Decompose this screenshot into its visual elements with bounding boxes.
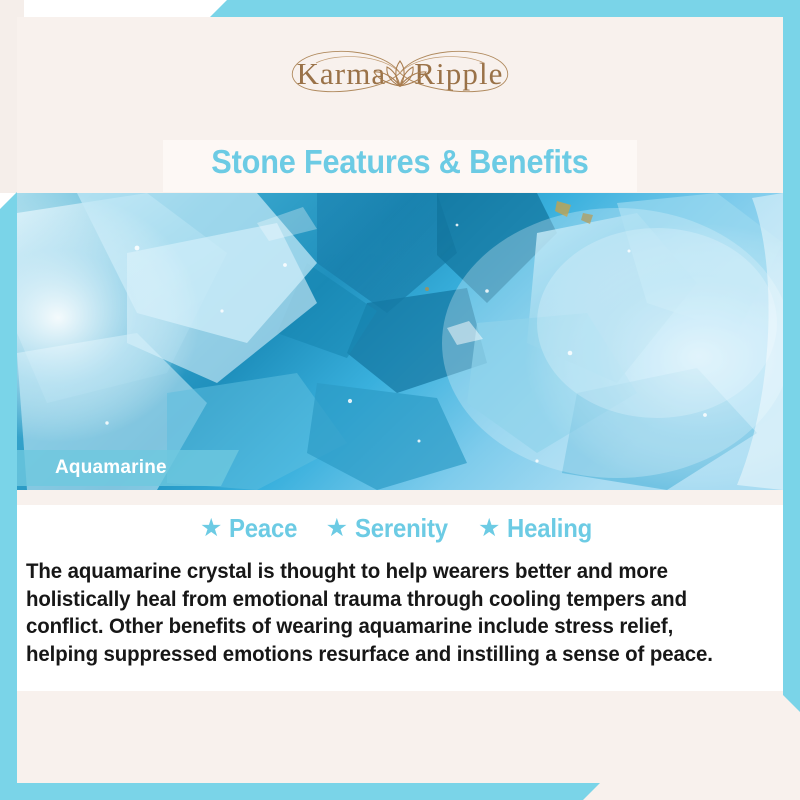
keyword-item-peace: ★ Peace	[200, 513, 304, 544]
star-icon: ★	[326, 516, 348, 541]
description-text: The aquamarine crystal is thought to hel…	[26, 558, 740, 668]
brand-logo-inner: Karma Ripple	[250, 42, 550, 104]
star-icon: ★	[478, 516, 500, 541]
infinity-flourish-icon	[250, 42, 550, 104]
stone-name-label: Aquamarine	[17, 457, 167, 479]
keyword-label: Healing	[507, 513, 592, 544]
keyword-label: Serenity	[355, 513, 448, 544]
keyword-item-serenity: ★ Serenity	[326, 513, 456, 544]
accent-band-right	[783, 0, 800, 712]
keyword-item-healing: ★ Healing	[478, 513, 600, 544]
star-icon: ★	[200, 516, 222, 541]
accent-band-top	[210, 0, 800, 17]
infographic-canvas: Karma Ripple Stone Features & Benefits	[0, 0, 800, 800]
keyword-label: Peace	[229, 513, 297, 544]
accent-band-bottom	[0, 783, 600, 800]
page-title: Stone Features & Benefits	[28, 143, 772, 181]
brand-word-right: Ripple	[414, 58, 503, 89]
brand-logo: Karma Ripple	[0, 42, 800, 104]
keyword-list: ★ Peace ★ Serenity ★ Healing	[0, 513, 800, 544]
accent-band-left	[0, 192, 17, 800]
stone-name-banner: Aquamarine	[17, 450, 239, 486]
footer-right-fill	[580, 691, 800, 800]
aquamarine-crystal-image	[17, 193, 783, 490]
stone-photo	[17, 193, 783, 490]
brand-word-left: Karma	[296, 58, 386, 89]
